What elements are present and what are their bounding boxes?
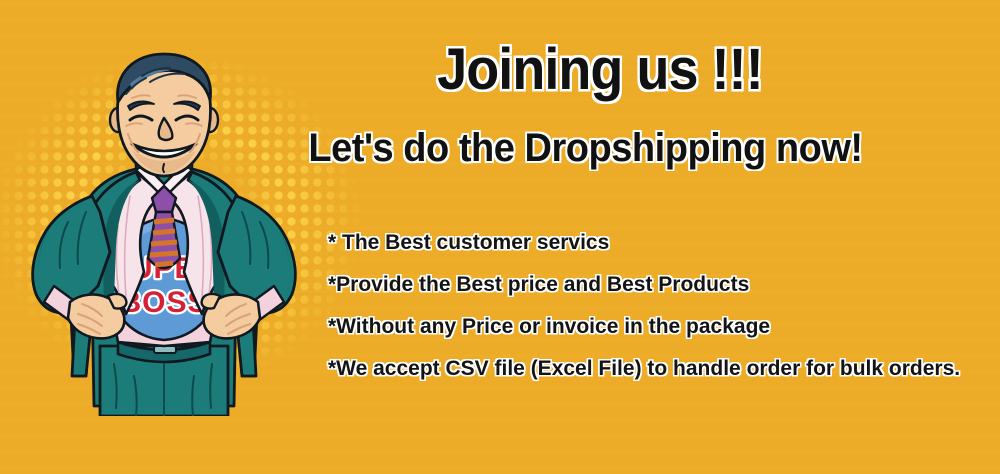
headline-secondary: Let's do the Dropshipping now! — [25, 126, 975, 171]
promotional-banner: SUPER BOSS — [0, 0, 1000, 474]
list-item: * The Best customer servics — [328, 222, 988, 264]
headline-primary: Joining us !!! — [35, 36, 965, 103]
list-item: *Provide the Best price and Best Product… — [328, 264, 988, 306]
list-item: *Without any Price or invoice in the pac… — [328, 306, 988, 348]
list-item: *We accept CSV file (Excel File) to hand… — [328, 348, 988, 390]
feature-list: * The Best customer servics *Provide the… — [328, 222, 988, 390]
